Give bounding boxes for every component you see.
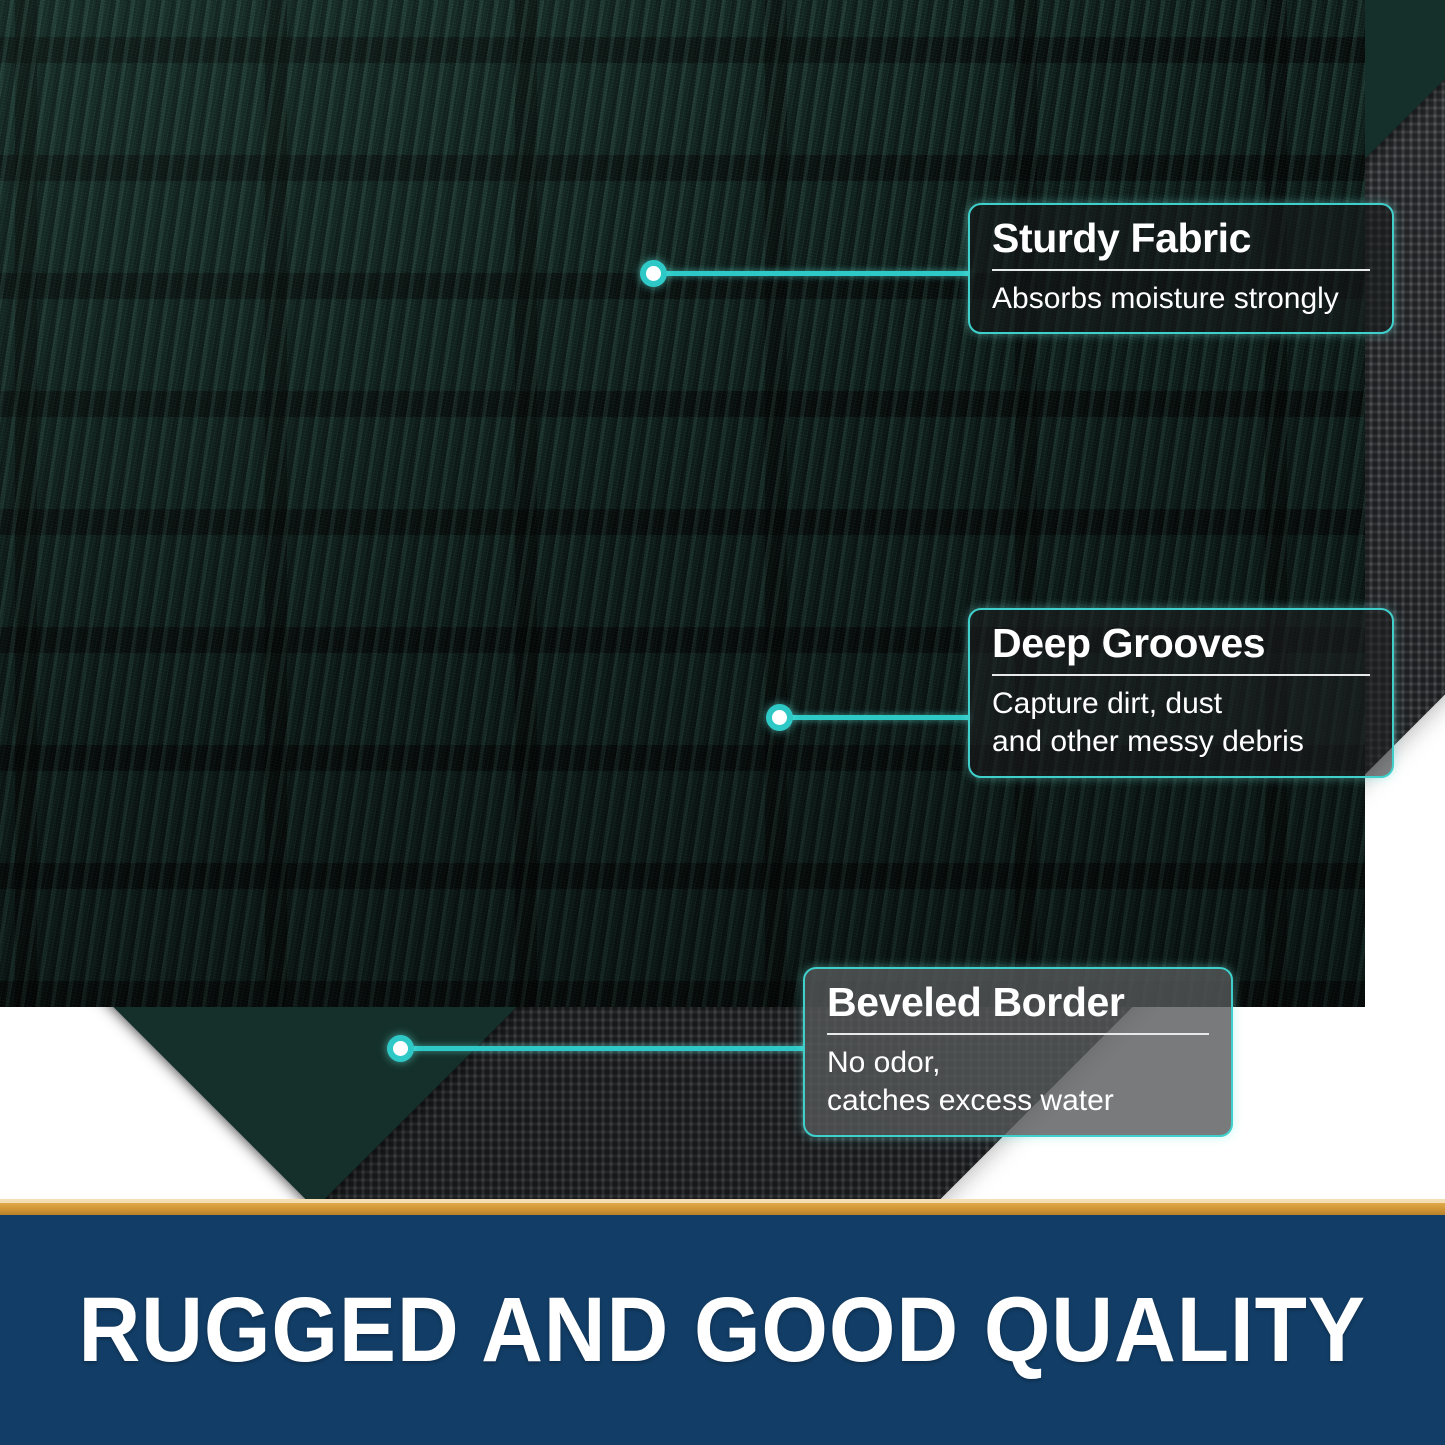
callout-description: No odor, catches excess water: [827, 1044, 1209, 1121]
callout-description: Absorbs moisture strongly: [992, 280, 1370, 318]
callout-description-line: catches excess water: [827, 1082, 1209, 1120]
callout-title: Deep Grooves: [992, 622, 1370, 665]
callout-title: Sturdy Fabric: [992, 217, 1370, 260]
leader-line-sturdy-fabric: [665, 271, 970, 276]
callout-description-line: No odor,: [827, 1044, 1209, 1082]
leader-dot-sturdy-fabric: [640, 260, 667, 287]
leader-line-beveled-border: [412, 1046, 805, 1051]
leader-dot-beveled-border: [387, 1035, 414, 1062]
leader-line-deep-grooves: [791, 715, 970, 720]
mat-lighting: [0, 0, 1365, 1007]
callout-description-line: Absorbs moisture strongly: [992, 280, 1370, 318]
callout-title: Beveled Border: [827, 981, 1209, 1024]
callout-sturdy-fabric: Sturdy Fabric Absorbs moisture strongly: [968, 203, 1394, 334]
callout-description-line: Capture dirt, dust: [992, 685, 1370, 723]
callout-deep-grooves: Deep Grooves Capture dirt, dust and othe…: [968, 608, 1394, 778]
callout-description-line: and other messy debris: [992, 723, 1370, 761]
mat-texture: [0, 0, 1365, 1007]
callout-divider: [827, 1033, 1209, 1035]
callout-divider: [992, 674, 1370, 676]
callout-description: Capture dirt, dust and other messy debri…: [992, 685, 1370, 762]
callout-beveled-border: Beveled Border No odor, catches excess w…: [803, 967, 1233, 1137]
callout-divider: [992, 269, 1370, 271]
leader-dot-deep-grooves: [766, 704, 793, 731]
banner-headline: RUGGED AND GOOD QUALITY: [79, 1278, 1366, 1383]
infographic-page: Sturdy Fabric Absorbs moisture strongly …: [0, 0, 1445, 1445]
bottom-banner: RUGGED AND GOOD QUALITY: [0, 1215, 1445, 1445]
banner-gold-stripe: [0, 1203, 1445, 1215]
